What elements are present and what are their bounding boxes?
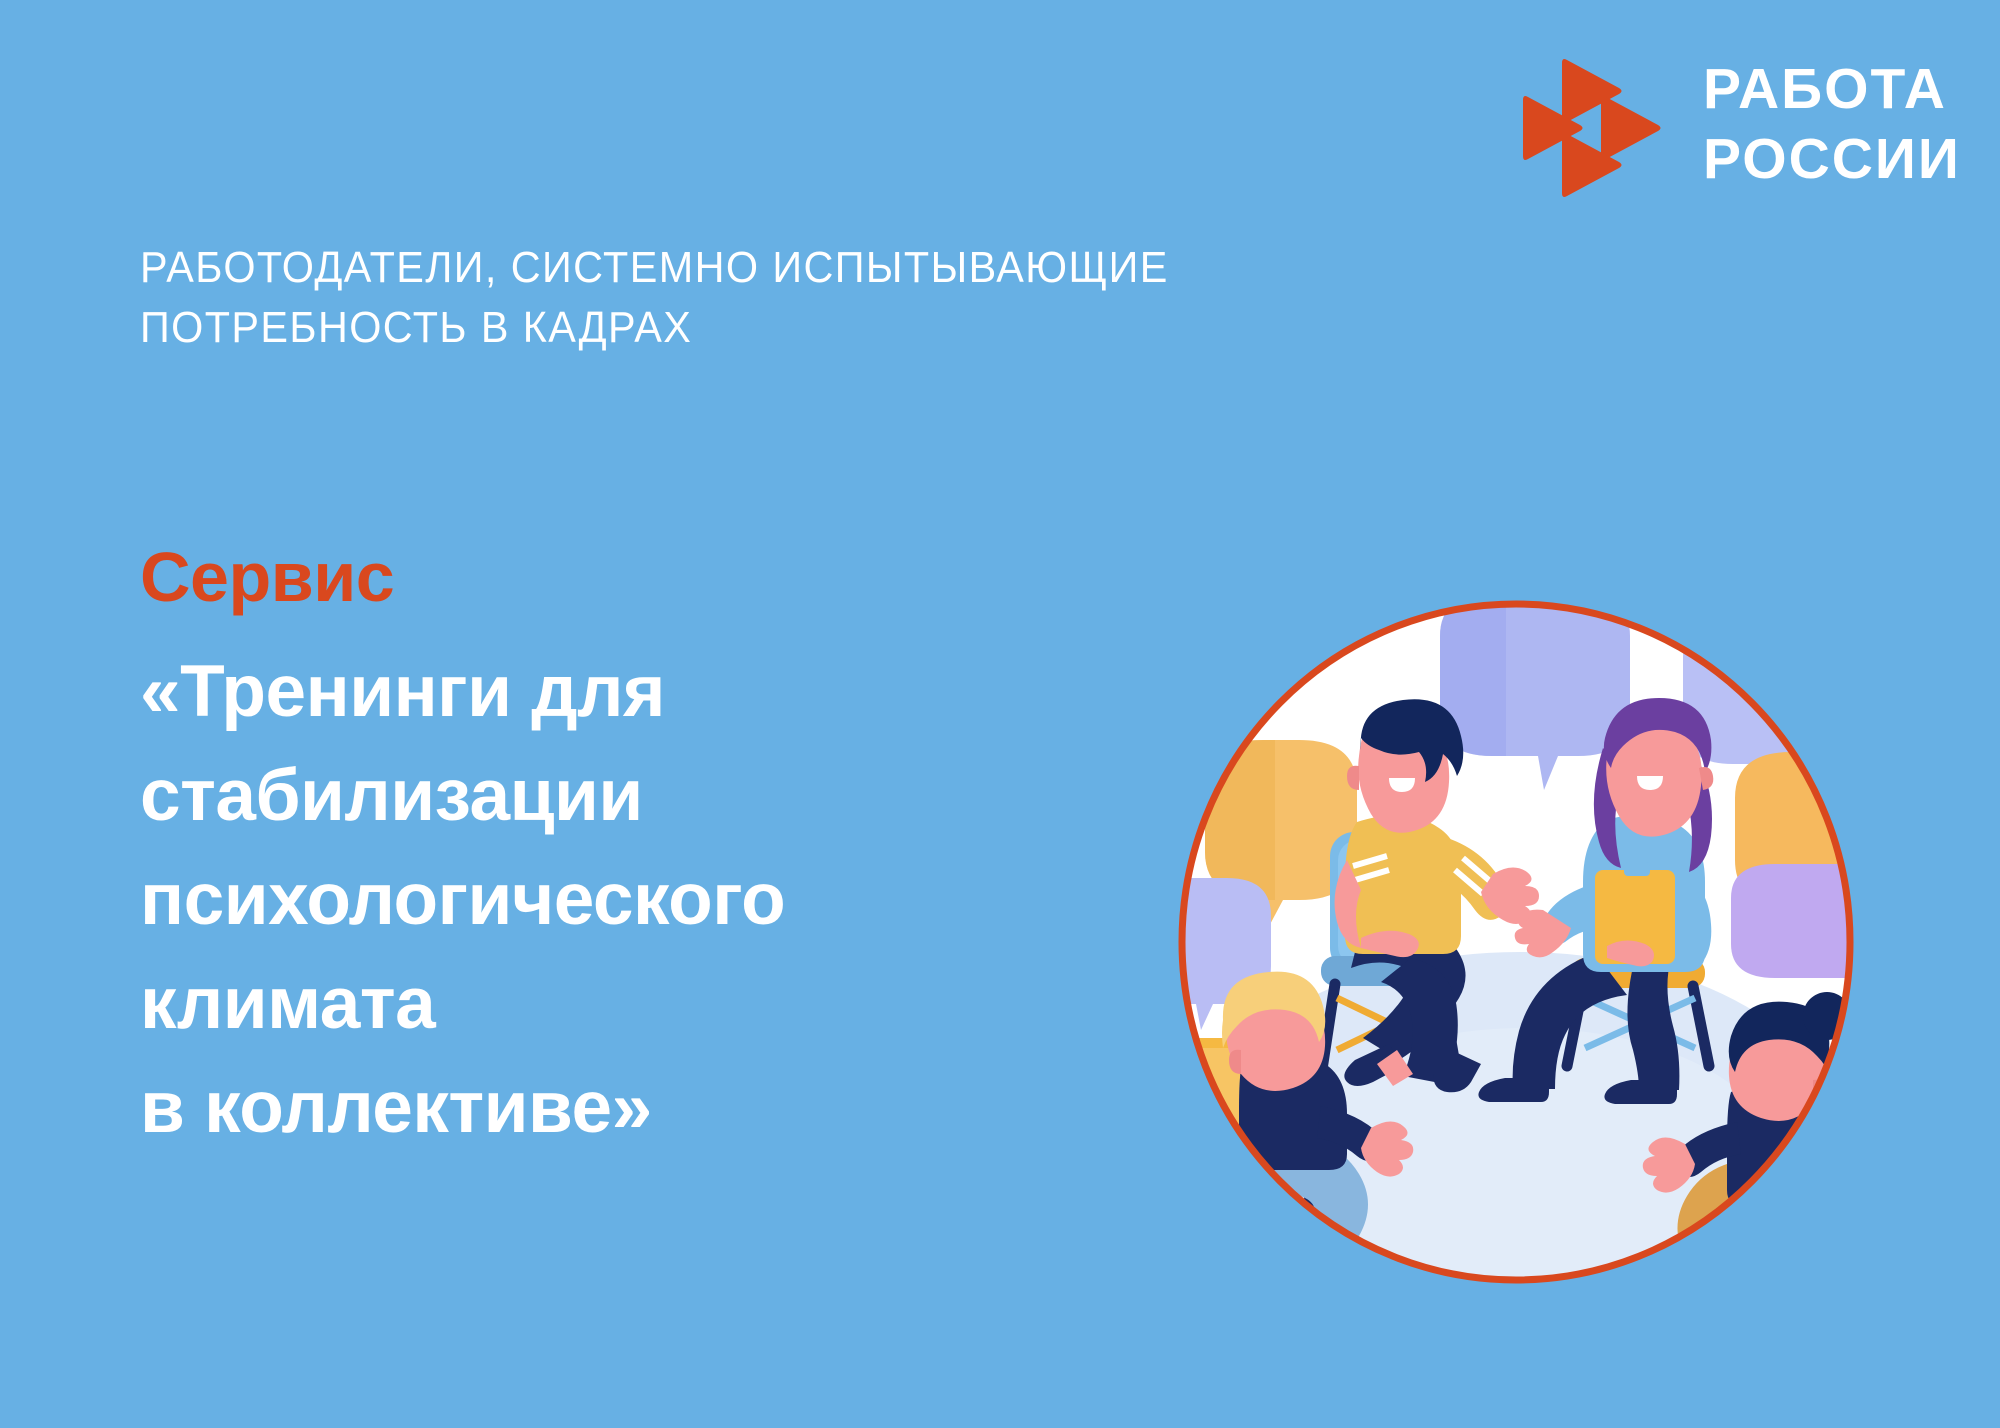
eyebrow-line-1: РАБОТОДАТЕЛИ, СИСТЕМНО ИСПЫТЫВАЮЩИЕ [140,238,1169,298]
brand-logo: РАБОТА РОССИИ [1523,52,1943,197]
slide-root: РАБОТА РОССИИ РАБОТОДАТЕЛИ, СИСТЕМНО ИСП… [0,0,2000,1428]
logo-wordmark: РАБОТА РОССИИ [1703,54,1961,194]
service-title-line-1: «Тренинги для [140,640,1040,744]
service-title-line-2: стабилизации [140,744,1040,848]
service-kicker: Сервис [140,532,1040,622]
title-block: Сервис «Тренинги для стабилизации психол… [140,532,1040,1160]
section-eyebrow-heading: РАБОТОДАТЕЛИ, СИСТЕМНО ИСПЫТЫВАЮЩИЕ ПОТР… [140,238,1169,358]
logo-wordmark-line2: РОССИИ [1703,124,1961,194]
service-title-line-4: климата [140,952,1040,1056]
logo-wordmark-line1: РАБОТА [1703,54,1961,124]
eyebrow-line-2: ПОТРЕБНОСТЬ В КАДРАХ [140,298,1169,358]
group-training-illustration [1175,598,1857,1286]
logo-triangles-icon [1523,52,1673,197]
service-title-line-3: психологического [140,848,1040,952]
service-title-line-5: в коллективе» [140,1056,1040,1160]
service-title: «Тренинги для стабилизации психологическ… [140,640,1040,1160]
